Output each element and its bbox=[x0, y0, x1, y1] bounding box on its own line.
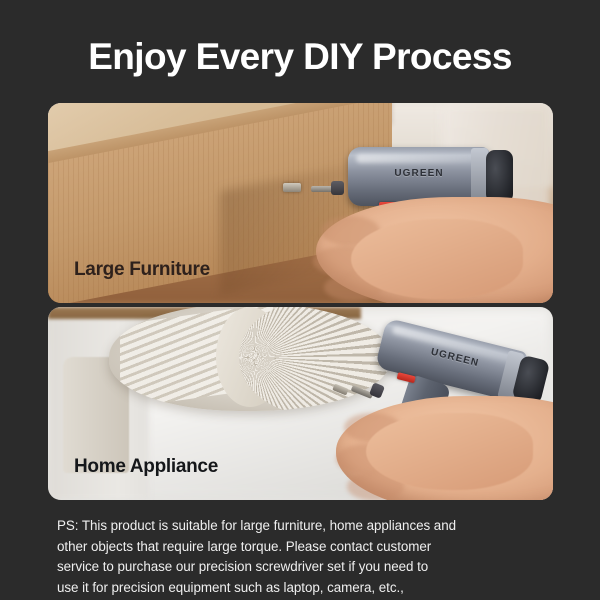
footer-line-3: service to purchase our precision screwd… bbox=[57, 557, 549, 578]
thumb bbox=[366, 413, 533, 490]
page-title: Enjoy Every DIY Process bbox=[0, 34, 600, 80]
footer-line-4: use it for precision equipment such as l… bbox=[57, 578, 549, 599]
driver-bit-collar bbox=[331, 181, 344, 195]
caption-home-appliance: Home Appliance bbox=[74, 456, 218, 478]
tool-end-cap bbox=[486, 150, 514, 203]
panel-large-furniture: UGREEN Large Furniture bbox=[48, 103, 553, 303]
caption-large-furniture: Large Furniture bbox=[74, 259, 210, 281]
thumb bbox=[351, 219, 523, 299]
air-circulator-fan bbox=[109, 307, 392, 411]
panel-home-appliance: UGREEN Home Appliance bbox=[48, 307, 553, 500]
product-marketing-image: Enjoy Every DIY Process UGREEN bbox=[0, 0, 600, 600]
footer-line-2: other objects that require large torque.… bbox=[57, 537, 549, 558]
footer-disclaimer: PS: This product is suitable for large f… bbox=[57, 516, 549, 598]
screw-head-icon bbox=[283, 183, 301, 192]
ugreen-logo: UGREEN bbox=[394, 168, 443, 179]
footer-line-1: PS: This product is suitable for large f… bbox=[57, 516, 549, 537]
